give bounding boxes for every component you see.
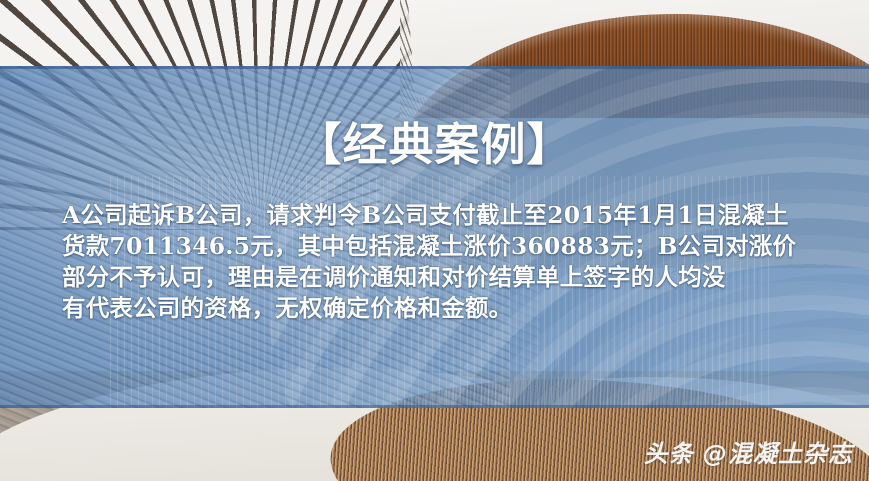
text-layer: 【经典案例】 A公司起诉B公司，请求判令B公司支付截止至2015年1月1日混凝土… — [0, 66, 869, 408]
page-title: 【经典案例】 — [0, 122, 869, 167]
body-line-3: 部分不予认可，理由是在调价通知和对价结算单上签字的人均没 — [62, 262, 810, 293]
body-line-4: 有代表公司的资格，无权确定价格和金额。 — [62, 293, 810, 324]
watermark: 头条 @混凝土杂志 — [644, 434, 853, 469]
body-line-2: 货款7011346.5元，其中包括混凝土涨价360883元；B公司对涨价 — [62, 231, 810, 262]
slide-canvas: 【经典案例】 A公司起诉B公司，请求判令B公司支付截止至2015年1月1日混凝土… — [0, 0, 869, 481]
case-body-text: A公司起诉B公司，请求判令B公司支付截止至2015年1月1日混凝土 货款7011… — [62, 200, 810, 324]
body-line-1: A公司起诉B公司，请求判令B公司支付截止至2015年1月1日混凝土 — [62, 200, 810, 231]
